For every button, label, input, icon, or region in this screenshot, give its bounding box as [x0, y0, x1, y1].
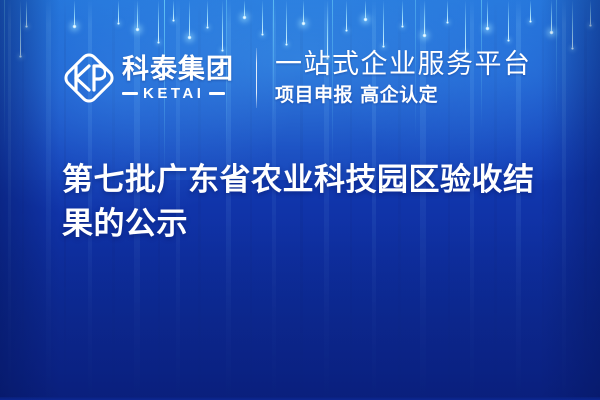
meteor-head	[422, 33, 427, 38]
meteor-tail	[551, 0, 552, 33]
meteor-head	[117, 22, 120, 25]
meteor-head	[187, 35, 192, 40]
meteor-tail	[137, 0, 138, 30]
meteor-head	[446, 21, 449, 24]
meteor-streak-icon	[447, 0, 448, 22]
meteor-streak-icon	[137, 0, 138, 30]
promo-banner: 科泰集团 KETAI 一站式企业服务平台 项目申报 高企认定 第七批广东省农业科…	[0, 0, 600, 400]
meteor-head	[206, 26, 209, 29]
tagline-secondary: 项目申报 高企认定	[275, 83, 532, 107]
meteor-head	[345, 29, 348, 32]
meteor-streak-icon	[424, 0, 425, 36]
meteor-tail	[508, 0, 509, 40]
brand-logo: 科泰集团 KETAI	[62, 51, 234, 105]
brand-name-en-row: KETAI	[122, 86, 234, 102]
meteor-streak-icon	[530, 0, 531, 21]
meteor-streak-icon	[207, 0, 208, 27]
meteor-head	[25, 25, 28, 28]
meteor-tail	[26, 0, 27, 26]
meteor-tail	[173, 0, 174, 20]
meteor-streak-icon	[346, 0, 347, 30]
page-title: 第七批广东省农业科技园区验收结果的公示	[62, 158, 562, 246]
meteor-tail	[118, 0, 119, 23]
meteor-head	[363, 17, 368, 22]
meteor-tail	[365, 0, 366, 20]
meteor-tail	[572, 0, 573, 48]
meteor-tail	[447, 0, 448, 22]
meteor-tail	[189, 0, 190, 38]
meteor-streak-icon	[590, 0, 591, 25]
meteor-streak-icon	[402, 0, 403, 26]
meteor-streak-icon	[383, 0, 384, 46]
tagline-primary: 一站式企业服务平台	[275, 49, 532, 81]
meteor-head	[589, 24, 592, 27]
meteor-streak-icon	[173, 0, 174, 20]
meteor-head	[301, 21, 306, 26]
meteor-tail	[590, 0, 591, 25]
meteor-streak-icon	[118, 0, 119, 23]
brand-name-cn: 科泰集团	[122, 55, 234, 85]
tagline-group: 一站式企业服务平台 项目申报 高企认定	[275, 49, 532, 107]
dash-left-icon	[122, 92, 138, 95]
meteor-streak-icon	[508, 0, 509, 40]
meteor-streak-icon	[244, 0, 245, 18]
meteor-streak-icon	[26, 0, 27, 26]
meteor-tail	[530, 0, 531, 21]
meteor-head	[242, 15, 247, 20]
meteor-head	[549, 30, 554, 35]
meteor-tail	[424, 0, 425, 36]
meteor-tail	[262, 0, 263, 34]
dash-right-icon	[209, 92, 225, 95]
ketai-diamond-icon	[62, 51, 116, 105]
meteor-streak-icon	[286, 0, 287, 44]
headline-container: 第七批广东省农业科技园区验收结果的公示	[62, 158, 562, 246]
meteor-streak-icon	[262, 0, 263, 34]
meteor-streak-icon	[303, 0, 304, 24]
meteor-head	[401, 25, 404, 28]
meteor-tail	[158, 0, 159, 42]
meteor-tail	[383, 0, 384, 46]
meteor-head	[72, 24, 77, 29]
banner-header: 科泰集团 KETAI 一站式企业服务平台 项目申报 高企认定	[0, 42, 600, 114]
kp-monogram-icon	[62, 51, 116, 105]
meteor-tail	[402, 0, 403, 26]
brand-logo-text: 科泰集团 KETAI	[122, 55, 234, 102]
meteor-head	[135, 27, 140, 32]
meteor-head	[485, 26, 490, 31]
meteor-streak-icon	[487, 0, 488, 29]
meteor-tail	[74, 0, 75, 27]
meteor-head	[261, 33, 264, 36]
meteor-tail	[207, 0, 208, 27]
meteor-streak-icon	[189, 0, 190, 38]
meteor-tail	[303, 0, 304, 24]
meteor-tail	[487, 0, 488, 29]
meteor-head	[529, 20, 532, 23]
meteor-streak-icon	[74, 0, 75, 27]
brand-name-en: KETAI	[143, 86, 204, 102]
meteor-streak-icon	[158, 0, 159, 42]
meteor-streak-icon	[551, 0, 552, 33]
meteor-tail	[244, 0, 245, 18]
meteor-tail	[286, 0, 287, 44]
meteor-streak-icon	[572, 0, 573, 48]
meteor-streak-icon	[365, 0, 366, 20]
meteor-head	[172, 19, 175, 22]
header-divider	[256, 48, 257, 108]
meteor-tail	[346, 0, 347, 30]
